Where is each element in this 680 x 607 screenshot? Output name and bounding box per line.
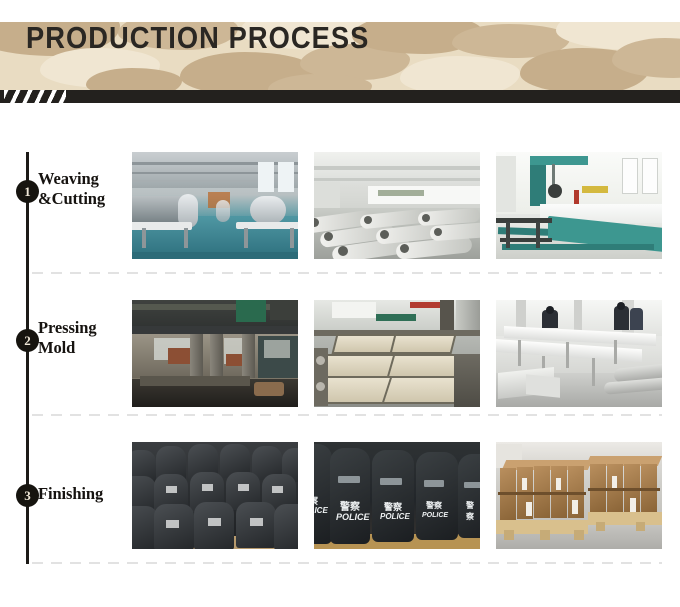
step-3-label: Finishing <box>38 484 103 504</box>
step-2-number-badge: 2 <box>16 329 39 352</box>
photo-cutting-machine <box>496 152 662 259</box>
photo-weaving-machines-hall <box>132 152 298 259</box>
step-1-label: Weaving &Cutting <box>38 169 105 210</box>
shield-text-chinese: 警察 <box>340 498 360 513</box>
production-process-infographic: PRODUCTION PROCESS 1 Weaving &Cutting <box>0 0 680 607</box>
divider-1 <box>32 272 662 274</box>
step-3-number-badge: 3 <box>16 484 39 507</box>
photo-hydraulic-press <box>132 300 298 407</box>
page-title: PRODUCTION PROCESS <box>26 38 416 74</box>
header-accent-bar <box>0 90 680 103</box>
divider-3 <box>32 562 662 564</box>
photo-packed-cartons-pallets <box>496 442 662 549</box>
step-2-label: Pressing Mold <box>38 318 96 359</box>
shield-text-chinese: 警察 <box>466 500 480 522</box>
diagonal-stripes-decoration <box>4 90 66 103</box>
photo-police-riot-shields: 警察 POLICE 警察 POLICE 警察 POLICE 警察 POLICE … <box>314 442 480 549</box>
step-1-number-badge: 1 <box>16 180 39 203</box>
divider-2 <box>32 414 662 416</box>
page-title-text: PRODUCTION PROCESS <box>26 22 369 56</box>
shield-text-english: POLICE <box>380 512 410 521</box>
header-banner: PRODUCTION PROCESS <box>0 22 680 90</box>
photo-workshop-tables <box>496 300 662 407</box>
shield-text-chinese: 警察 <box>426 500 442 511</box>
photo-ballistic-panels-stacks <box>132 442 298 549</box>
photo-fabric-rolls-storage <box>314 152 480 259</box>
shield-text-english: POLICE <box>336 512 370 522</box>
shield-text-english: POLICE <box>314 506 328 515</box>
photo-pressing-molds <box>314 300 480 407</box>
shield-text-english: POLICE <box>422 512 448 519</box>
